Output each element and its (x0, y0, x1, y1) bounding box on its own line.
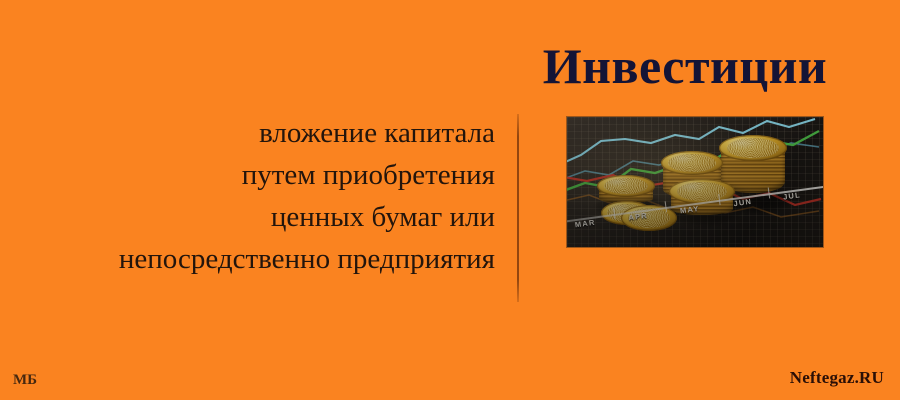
definition-text: вложение капитала путем приобретения цен… (0, 112, 495, 280)
definition-line-4: непосредственно предприятия (0, 238, 495, 280)
investment-definition-slide: Инвестиции вложение капитала путем приоб… (0, 0, 900, 400)
page-title: Инвестиции (520, 38, 850, 94)
vertical-divider (517, 114, 519, 302)
definition-line-3: ценных бумаг или (0, 196, 495, 238)
coins-chart-photo: MAR APR MAY JUN JUL (567, 117, 823, 247)
definition-line-2: путем приобретения (0, 154, 495, 196)
definition-line-1: вложение капитала (0, 112, 495, 154)
photo-vignette (567, 117, 823, 247)
site-watermark: Neftegaz.RU (790, 368, 884, 388)
author-initials-mark: МБ (13, 372, 37, 389)
